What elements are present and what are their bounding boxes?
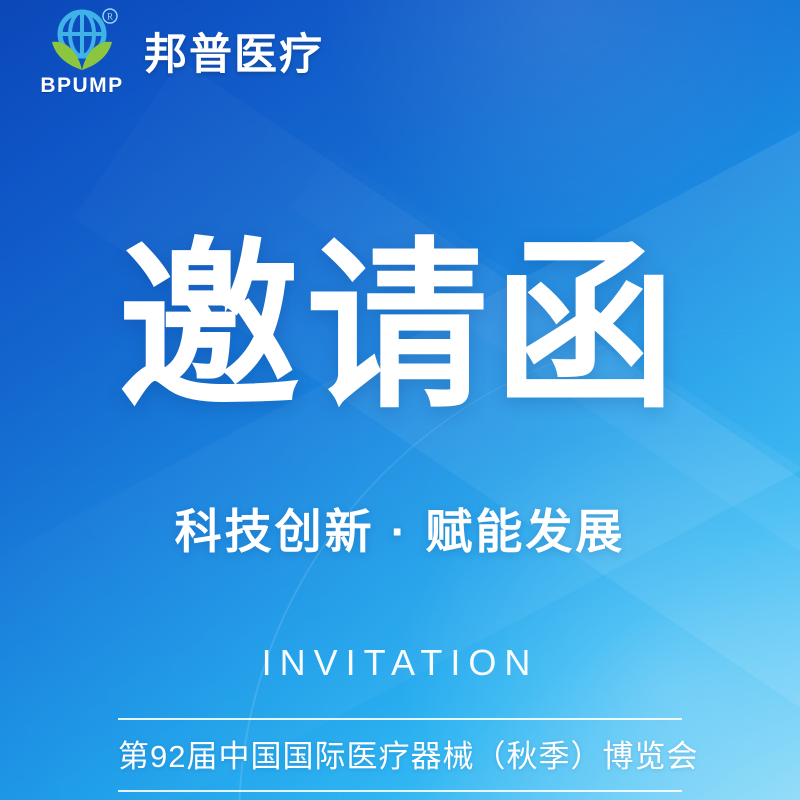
poster-footer: 第92届中国国际医疗器械（秋季）博览会 (118, 718, 682, 792)
event-name: 第92届中国国际医疗器械（秋季）博览会 (118, 740, 682, 774)
poster-title: 邀请函 (0, 236, 800, 418)
background-diagonal-band-1 (74, 60, 800, 800)
brand-header: R BPUMP 邦普医疗 (36, 8, 324, 96)
svg-text:R: R (107, 12, 113, 22)
company-name: 邦普医疗 (144, 34, 324, 77)
company-logo: R BPUMP (36, 8, 128, 96)
poster-english-title: INVITATION (0, 645, 800, 681)
background-glow-top (300, 0, 800, 260)
footer-divider-top (118, 718, 682, 720)
invitation-poster: R BPUMP 邦普医疗 邀请函 科技创新 · 赋能发展 INVITATION … (0, 0, 800, 800)
globe-leaf-logo-icon: R (40, 8, 124, 74)
logo-wordmark: BPUMP (40, 75, 123, 96)
footer-divider-bottom (118, 790, 682, 792)
poster-tagline: 科技创新 · 赋能发展 (0, 508, 800, 555)
